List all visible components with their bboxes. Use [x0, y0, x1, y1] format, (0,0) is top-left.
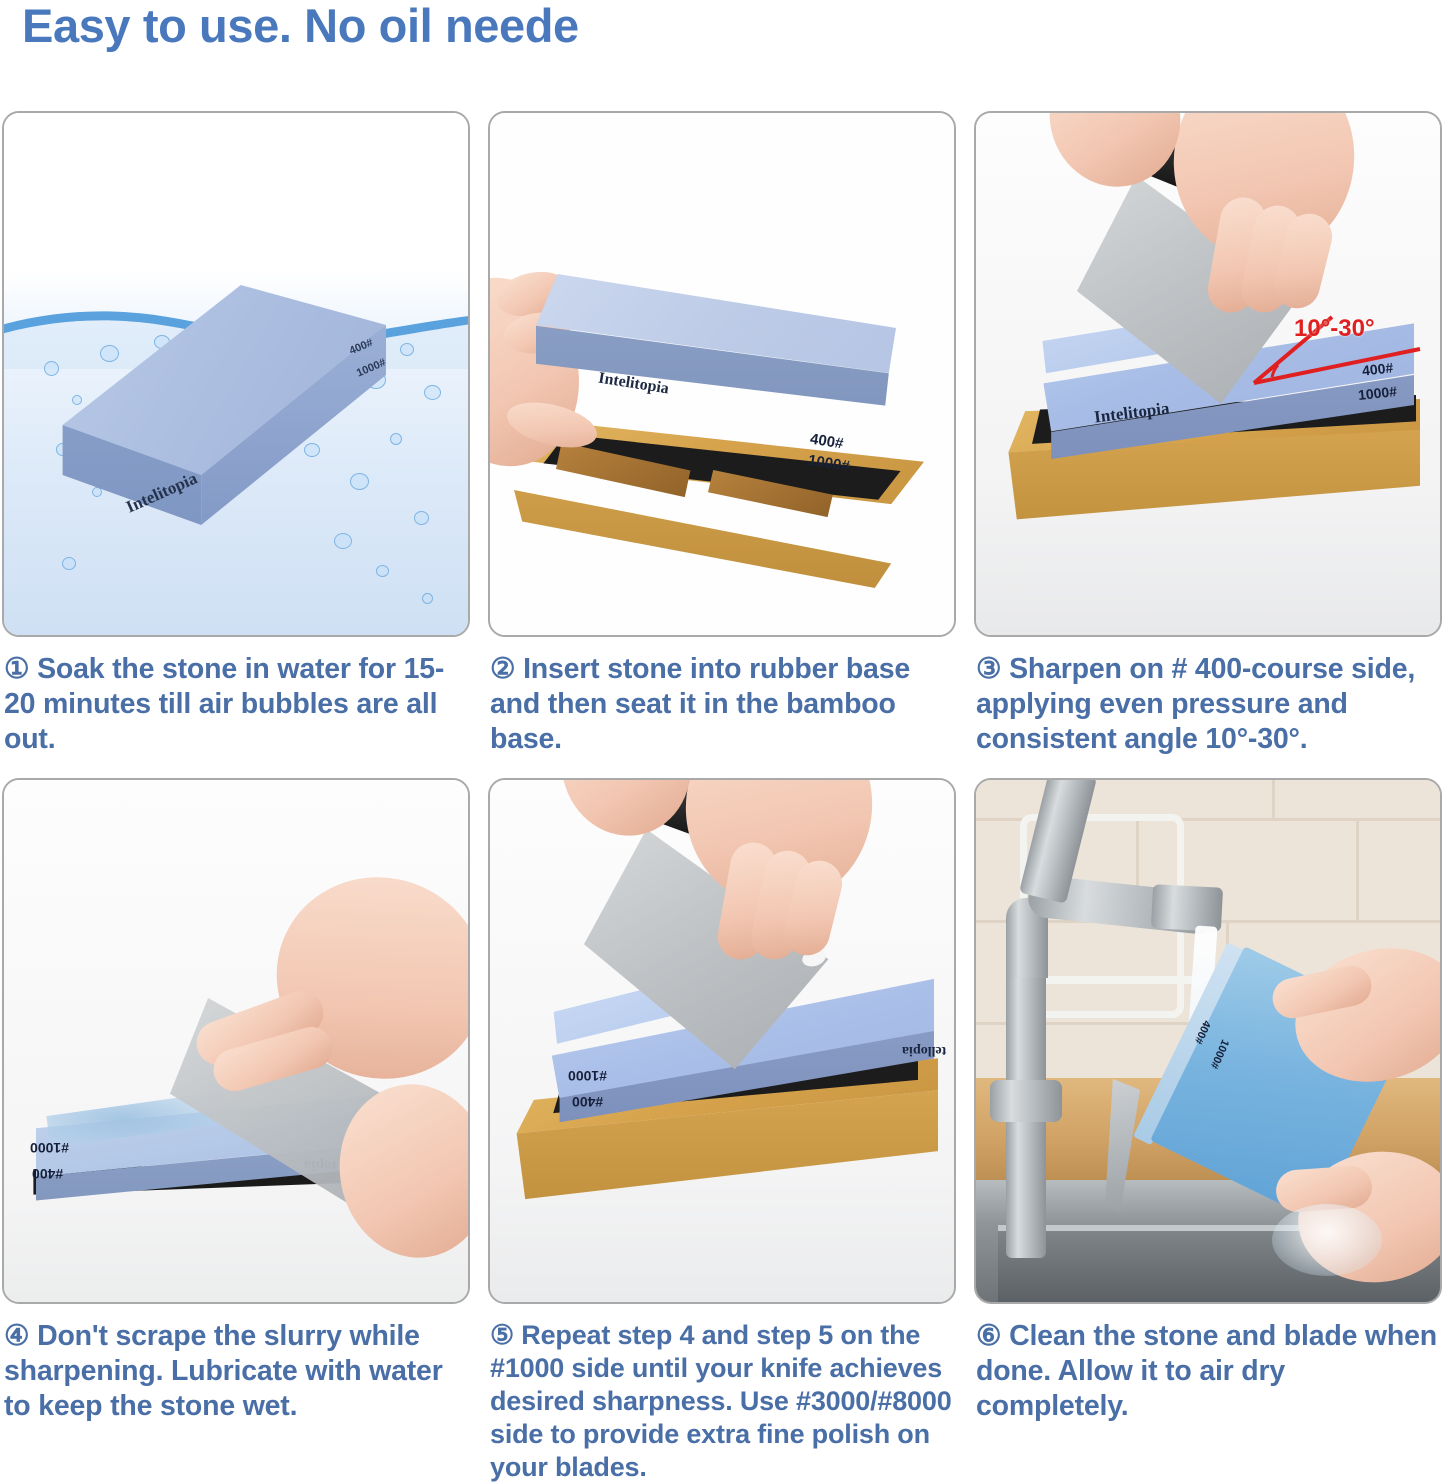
step-photo-sharpen-400: 10°-30° 400# 1000# Intelitopia	[974, 111, 1442, 637]
step-caption-2: ② Insert stone into rubber base and then…	[488, 652, 956, 756]
faucet-spout	[1151, 884, 1223, 932]
step-cell-2: Intelitopia 400# 1000# ② Insert stone in…	[488, 111, 956, 756]
tile-grout-line	[1356, 821, 1359, 920]
steps-row-bottom: #1000 #400 topia ④ Don't scrape the slur…	[0, 778, 1445, 1484]
bubble	[334, 533, 352, 549]
faucet-base	[990, 1080, 1062, 1122]
step-cell-6: 400# 1000# ⑥ Clean the stone and blade w…	[974, 778, 1442, 1484]
page-title: Easy to use. No oil neede	[22, 0, 579, 53]
step-cell-1: 400# 1000# Intelitopia ① Soak the stone …	[2, 111, 470, 756]
scene-water-soak: 400# 1000# Intelitopia	[4, 113, 468, 635]
water-splash	[1272, 1204, 1382, 1276]
bubble	[422, 593, 433, 604]
steps-row-top: 400# 1000# Intelitopia ① Soak the stone …	[0, 111, 1445, 756]
step-caption-3: ③ Sharpen on # 400-course side, applying…	[974, 652, 1442, 756]
stone-grit-fine-label: #1000	[30, 1140, 69, 1156]
step-cell-4: #1000 #400 topia ④ Don't scrape the slur…	[2, 778, 470, 1484]
step-photo-insert-base: Intelitopia 400# 1000#	[488, 111, 956, 637]
angle-label: 10°-30°	[1294, 315, 1375, 343]
step-caption-5: ⑤ Repeat step 4 and step 5 on the #1000 …	[488, 1319, 956, 1484]
scene-sharpen-angle: 10°-30° 400# 1000# Intelitopia	[976, 113, 1440, 635]
stone-brand-label: tellopia	[902, 1042, 946, 1058]
bubble	[376, 565, 389, 577]
scene-slurry: #1000 #400 topia	[4, 780, 468, 1302]
step-photo-soak: 400# 1000# Intelitopia	[2, 111, 470, 637]
step-caption-4: ④ Don't scrape the slurry while sharpeni…	[2, 1319, 470, 1423]
stone-grit-coarse-label: #400	[572, 1094, 603, 1110]
scene-sharpen-fine: #1000 #400 tellopia	[490, 780, 954, 1302]
bubble	[424, 385, 441, 400]
step-caption-6: ⑥ Clean the stone and blade when done. A…	[974, 1319, 1442, 1423]
step-caption-1: ① Soak the stone in water for 15-20 minu…	[2, 652, 470, 756]
stone-grit-fine-label: #1000	[568, 1068, 607, 1084]
bubble	[400, 343, 414, 356]
dish-rack-bar	[1024, 976, 1204, 984]
stone-grit-coarse-label: #400	[32, 1166, 63, 1182]
bubble	[390, 433, 402, 445]
whetstone	[56, 285, 386, 535]
step-cell-5: #1000 #400 tellopia ⑤ Repeat step 4 and …	[488, 778, 956, 1484]
step-photo-clean: 400# 1000#	[974, 778, 1442, 1304]
steps-grid: 400# 1000# Intelitopia ① Soak the stone …	[0, 111, 1445, 1484]
scene-insert-stone: Intelitopia 400# 1000#	[490, 113, 954, 635]
step-cell-3: 10°-30° 400# 1000# Intelitopia ③ Sh	[974, 111, 1442, 756]
bubble	[62, 557, 76, 570]
step-photo-repeat-1000: #1000 #400 tellopia	[488, 778, 956, 1304]
step-photo-slurry: #1000 #400 topia	[2, 778, 470, 1304]
tile-grout-line	[1272, 780, 1275, 818]
bubble	[414, 511, 429, 525]
scene-rinse-sink: 400# 1000#	[976, 780, 1440, 1302]
stone-grit-coarse-label: 400#	[1361, 359, 1394, 378]
